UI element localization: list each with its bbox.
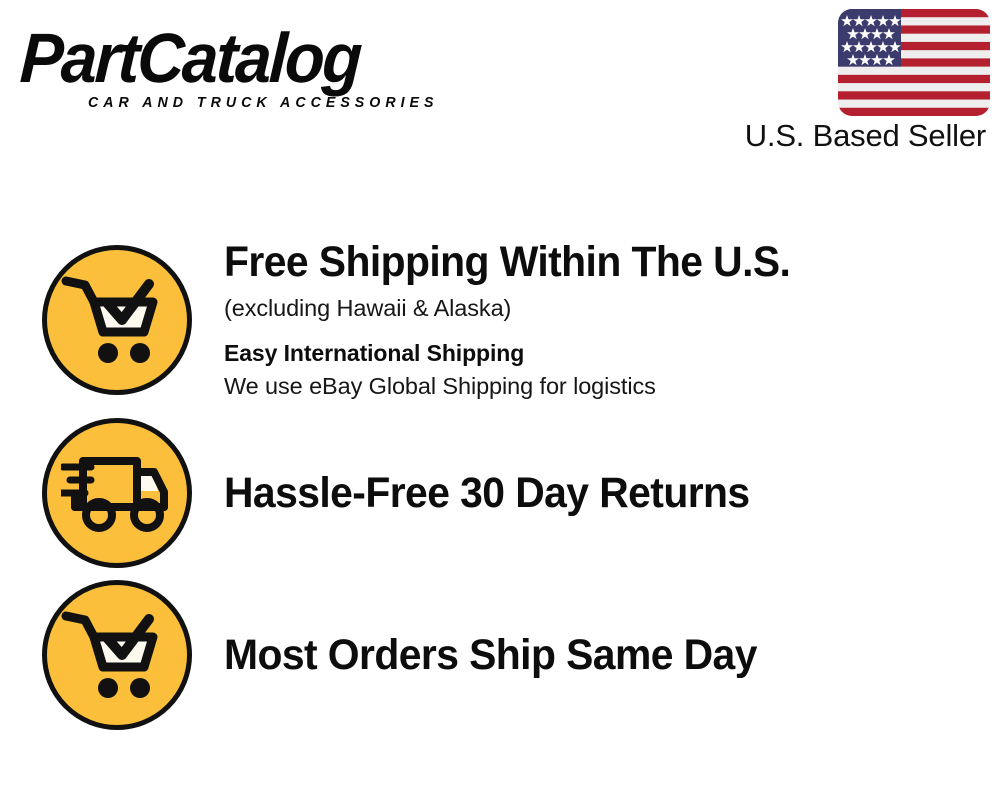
banner-header: PartCatalog CAR AND TRUCK ACCESSORIES <box>0 0 1000 170</box>
feature-row: Most Orders Ship Same Day <box>0 575 1000 735</box>
delivery-truck-icon <box>42 418 192 568</box>
feature-list: Free Shipping Within The U.S. (excluding… <box>0 230 1000 735</box>
feature-row: Hassle-Free 30 Day Returns <box>0 410 1000 575</box>
feature-title: Hassle-Free 30 Day Returns <box>224 468 942 518</box>
shopping-cart-check-icon <box>42 245 192 395</box>
feature-row: Free Shipping Within The U.S. (excluding… <box>0 230 1000 410</box>
feature-text-block: Free Shipping Within The U.S. (excluding… <box>192 237 1000 403</box>
feature-title: Most Orders Ship Same Day <box>224 630 942 680</box>
feature-title: Free Shipping Within The U.S. <box>224 237 942 287</box>
brand-logo: PartCatalog CAR AND TRUCK ACCESSORIES <box>22 22 492 117</box>
brand-tagline: CAR AND TRUCK ACCESSORIES <box>88 95 438 111</box>
feature-sub-heading: Easy International Shipping <box>224 336 980 370</box>
feature-text-block: Hassle-Free 30 Day Returns <box>192 468 1000 518</box>
us-based-seller-label: U.S. Based Seller <box>745 118 986 154</box>
shopping-cart-check-icon <box>42 580 192 730</box>
us-flag-icon <box>838 9 990 116</box>
promo-banner: PartCatalog CAR AND TRUCK ACCESSORIES <box>0 0 1000 800</box>
feature-text-block: Most Orders Ship Same Day <box>192 630 1000 680</box>
feature-subtitle: (excluding Hawaii & Alaska) <box>224 291 980 325</box>
brand-wordmark: PartCatalog <box>18 22 361 94</box>
feature-sub-text: We use eBay Global Shipping for logistic… <box>224 370 980 403</box>
